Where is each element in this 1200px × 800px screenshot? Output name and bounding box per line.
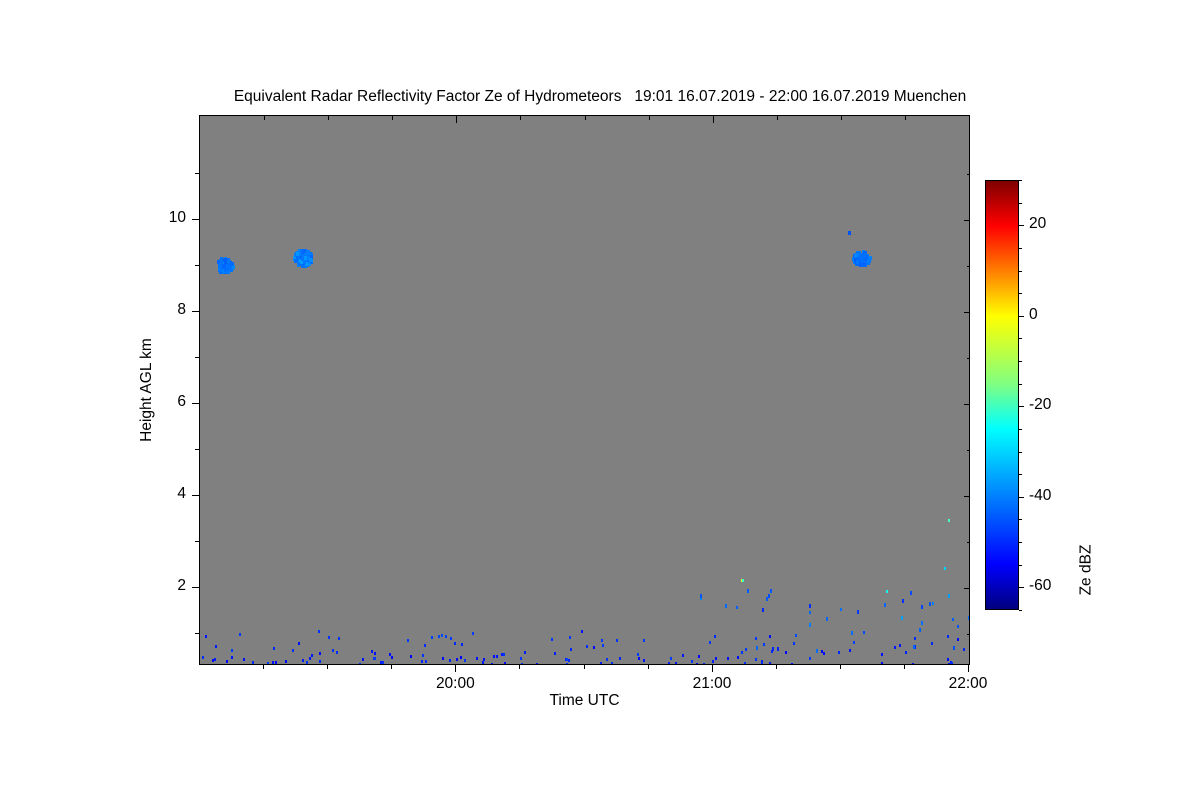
reflectivity-cell <box>504 662 506 665</box>
reflectivity-cell <box>777 647 779 651</box>
reflectivity-cell <box>298 642 300 645</box>
reflectivity-cell <box>914 637 916 640</box>
x-minor-tick <box>968 665 969 669</box>
reflectivity-cell <box>862 255 865 259</box>
reflectivity-cell <box>785 664 787 665</box>
reflectivity-cell <box>230 262 233 266</box>
reflectivity-cell <box>848 231 851 235</box>
y-minor-tick-right <box>967 266 970 267</box>
colorbar-title: Ze dBZ <box>1071 510 1101 630</box>
reflectivity-cell <box>391 656 393 659</box>
reflectivity-cell <box>496 655 498 658</box>
reflectivity-cell <box>302 659 304 662</box>
reflectivity-cell <box>338 637 340 640</box>
plot-area[interactable] <box>199 115 970 665</box>
reflectivity-cell <box>239 633 241 636</box>
y-tick-mark-right <box>964 496 970 497</box>
reflectivity-cell <box>785 651 787 654</box>
y-tick-label: 10 <box>124 209 186 227</box>
reflectivity-cell <box>826 617 828 621</box>
colorbar-tick-label: -40 <box>1029 487 1051 505</box>
reflectivity-cell <box>319 660 321 663</box>
reflectivity-cell <box>857 610 859 614</box>
x-minor-tick-top <box>969 116 970 120</box>
reflectivity-cell <box>421 660 423 663</box>
reflectivity-cell <box>755 658 757 661</box>
x-minor-tick-top <box>520 116 521 120</box>
reflectivity-cell <box>840 608 842 611</box>
reflectivity-cell <box>696 663 698 665</box>
reflectivity-cell <box>450 637 452 640</box>
reflectivity-cell <box>422 654 424 657</box>
reflectivity-cell <box>745 648 747 651</box>
reflectivity-cell <box>214 658 216 661</box>
reflectivity-cell <box>460 656 462 659</box>
reflectivity-cell <box>867 259 870 263</box>
reflectivity-cell <box>953 646 955 650</box>
reflectivity-cell <box>554 652 556 655</box>
y-minor-tick-right <box>967 358 970 359</box>
reflectivity-cell <box>668 662 670 665</box>
reflectivity-cell <box>382 661 384 664</box>
reflectivity-cell <box>737 656 739 659</box>
x-minor-tick <box>519 665 520 669</box>
y-minor-tick <box>195 173 199 174</box>
radar-reflectivity-figure: Equivalent Radar Reflectivity Factor Ze … <box>0 0 1200 800</box>
colorbar-gradient[interactable] <box>985 180 1019 610</box>
colorbar-minor-tick <box>1019 497 1022 498</box>
reflectivity-cell <box>593 646 595 649</box>
x-minor-tick-top <box>649 116 650 120</box>
reflectivity-cell <box>714 635 716 638</box>
y-tick-mark-right <box>964 588 970 589</box>
reflectivity-cell <box>725 604 727 608</box>
reflectivity-cell <box>493 655 495 658</box>
reflectivity-cell <box>870 664 872 665</box>
colorbar-wrap[interactable]: 200-20-40-60 Ze dBZ <box>985 180 1019 610</box>
reflectivity-cell <box>853 641 855 644</box>
y-minor-tick-right <box>967 450 970 451</box>
reflectivity-cell <box>224 268 227 272</box>
reflectivity-cell <box>472 632 474 635</box>
reflectivity-cell <box>643 639 645 642</box>
x-minor-tick <box>840 665 841 669</box>
reflectivity-cell <box>362 658 364 661</box>
y-tick-mark-right <box>964 220 970 221</box>
reflectivity-cell <box>809 604 811 608</box>
reflectivity-cell <box>231 649 233 652</box>
reflectivity-cell <box>224 258 227 262</box>
reflectivity-cell <box>267 662 269 665</box>
reflectivity-cell <box>643 659 645 662</box>
reflectivity-cell <box>963 648 965 651</box>
reflectivity-cell <box>675 662 677 665</box>
x-minor-tick <box>904 665 905 669</box>
y-tick-mark-right <box>964 404 970 405</box>
reflectivity-cell <box>438 635 440 638</box>
reflectivity-cell <box>637 653 639 656</box>
reflectivity-cell <box>863 631 865 634</box>
x-minor-tick-top <box>456 116 457 120</box>
reflectivity-cell <box>856 260 859 264</box>
x-tick-mark-top <box>969 116 970 123</box>
reflectivity-cell <box>881 662 883 665</box>
reflectivity-cell <box>410 655 412 658</box>
reflectivity-cell <box>407 639 409 642</box>
reflectivity-cell <box>445 635 447 638</box>
reflectivity-cell <box>736 606 738 609</box>
reflectivity-cell <box>524 651 526 654</box>
reflectivity-cell <box>769 635 771 638</box>
reflectivity-cell <box>431 636 433 639</box>
reflectivity-cell <box>948 594 950 598</box>
reflectivity-cell <box>884 603 886 607</box>
reflectivity-cell <box>744 662 746 665</box>
reflectivity-cell <box>491 663 493 665</box>
reflectivity-cell <box>568 659 570 662</box>
reflectivity-cell <box>894 646 896 649</box>
reflectivity-cell <box>243 658 245 661</box>
x-tick-label: 22:00 <box>923 675 1013 693</box>
y-tick-mark <box>192 403 199 404</box>
reflectivity-cell <box>762 608 764 612</box>
reflectivity-cell <box>482 661 484 664</box>
reflectivity-cell <box>886 590 888 593</box>
reflectivity-cell <box>952 618 954 621</box>
reflectivity-cell <box>441 634 443 637</box>
reflectivity-cell <box>755 637 757 640</box>
reflectivity-cell <box>712 660 714 663</box>
reflectivity-cell <box>638 657 640 660</box>
colorbar-minor-tick <box>1019 429 1022 430</box>
colorbar-title-label: Ze dBZ <box>1077 545 1095 596</box>
reflectivity-cell <box>932 602 934 605</box>
reflectivity-cell <box>371 650 373 653</box>
x-axis-title: Time UTC <box>199 692 970 710</box>
reflectivity-cell <box>957 625 959 628</box>
reflectivity-cell <box>252 661 254 664</box>
reflectivity-cell <box>374 652 376 655</box>
x-minor-tick <box>584 665 585 669</box>
x-minor-tick <box>263 665 264 669</box>
reflectivity-cell <box>569 636 571 639</box>
reflectivity-cell <box>947 658 949 661</box>
reflectivity-cell <box>791 663 793 665</box>
reflectivity-cell <box>741 651 743 654</box>
reflectivity-cell <box>611 662 613 665</box>
reflectivity-cell <box>559 664 561 665</box>
x-minor-tick <box>327 665 328 669</box>
reflectivity-cell <box>454 642 456 645</box>
reflectivity-cell <box>756 646 758 650</box>
reflectivity-cell <box>727 657 729 660</box>
reflectivity-cell <box>359 663 361 665</box>
reflectivity-cell <box>913 645 915 649</box>
reflectivity-cell <box>294 259 297 263</box>
colorbar-minor-tick <box>1019 406 1022 407</box>
reflectivity-cell <box>464 659 466 662</box>
y-tick-mark <box>192 219 199 220</box>
reflectivity-cell <box>476 657 478 660</box>
reflectivity-cell <box>698 655 700 658</box>
reflectivity-cell <box>766 597 768 601</box>
reflectivity-cell <box>821 650 823 653</box>
x-tick-label: 20:00 <box>410 675 500 693</box>
reflectivity-cell <box>373 657 375 660</box>
reflectivity-cell <box>215 645 217 648</box>
reflectivity-cell <box>772 647 774 651</box>
reflectivity-cell <box>709 641 711 644</box>
reflectivity-cell <box>304 256 307 260</box>
reflectivity-cell <box>456 658 458 661</box>
reflectivity-cell <box>809 623 811 627</box>
reflectivity-cell <box>899 644 901 647</box>
reflectivity-cell <box>296 252 299 256</box>
reflectivity-cell <box>682 654 684 657</box>
reflectivity-cell <box>721 664 723 665</box>
reflectivity-cell <box>581 630 583 633</box>
colorbar-minor-tick <box>1019 316 1022 317</box>
reflectivity-cell <box>521 663 523 665</box>
reflectivity-cell <box>795 634 797 637</box>
x-minor-tick <box>776 665 777 669</box>
colorbar-minor-tick <box>1019 180 1022 181</box>
colorbar-tick-label: 20 <box>1029 215 1046 233</box>
reflectivity-cell <box>319 652 321 655</box>
reflectivity-cell <box>570 648 572 651</box>
reflectivity-cell <box>905 651 907 654</box>
colorbar-minor-tick <box>1019 610 1022 611</box>
figure-title: Equivalent Radar Reflectivity Factor Ze … <box>0 88 1200 106</box>
colorbar-minor-tick <box>1019 361 1022 362</box>
y-minor-tick-right <box>967 174 970 175</box>
x-minor-tick-top <box>328 116 329 120</box>
reflectivity-cell <box>951 662 953 665</box>
reflectivity-cell <box>226 660 228 663</box>
y-minor-tick <box>195 633 199 634</box>
reflectivity-cell <box>619 657 621 660</box>
reflectivity-cell <box>336 651 338 654</box>
x-minor-tick-top <box>713 116 714 120</box>
reflectivity-cell <box>944 567 946 570</box>
reflectivity-cell <box>442 657 444 660</box>
reflectivity-cell <box>670 657 672 660</box>
reflectivity-cell <box>881 653 883 656</box>
reflectivity-cell <box>520 657 522 660</box>
reflectivity-cell <box>318 630 320 633</box>
x-minor-tick-top <box>841 116 842 120</box>
reflectivity-cell <box>948 519 950 522</box>
x-minor-tick <box>455 665 456 669</box>
reflectivity-cell <box>566 663 568 665</box>
x-minor-tick <box>712 665 713 669</box>
reflectivity-cell <box>231 656 233 659</box>
y-minor-tick <box>195 265 199 266</box>
reflectivity-cell <box>968 616 970 620</box>
reflectivity-cell <box>849 649 851 652</box>
reflectivity-cell <box>919 628 921 632</box>
reflectivity-cell <box>501 653 503 656</box>
reflectivity-cell <box>292 649 294 652</box>
reflectivity-cell <box>606 658 608 661</box>
reflectivity-cell <box>823 652 825 655</box>
reflectivity-cell <box>703 663 705 665</box>
colorbar-minor-tick <box>1019 384 1022 385</box>
x-minor-tick-top <box>585 116 586 120</box>
x-minor-tick <box>648 665 649 669</box>
reflectivity-cell <box>838 651 840 654</box>
colorbar-minor-tick <box>1019 587 1022 588</box>
reflectivity-cell <box>691 660 693 663</box>
y-tick-mark <box>192 311 199 312</box>
reflectivity-cell <box>205 635 207 638</box>
reflectivity-cell <box>306 661 308 664</box>
reflectivity-cell <box>273 647 275 650</box>
reflectivity-cell <box>809 611 811 614</box>
reflectivity-cell <box>742 579 744 582</box>
reflectivity-cell <box>601 639 603 642</box>
reflectivity-cell <box>863 263 866 267</box>
reflectivity-cell <box>461 643 463 646</box>
reflectivity-cell <box>902 599 904 603</box>
y-axis-title: Height AGL km <box>132 250 162 530</box>
reflectivity-cell <box>912 663 914 665</box>
y-minor-tick <box>195 449 199 450</box>
y-minor-tick-right <box>967 634 970 635</box>
x-minor-tick-top <box>905 116 906 120</box>
reflectivity-cell <box>854 253 857 257</box>
reflectivity-cell <box>947 635 949 638</box>
colorbar-minor-tick <box>1019 271 1022 272</box>
reflectivity-cell <box>901 616 903 620</box>
reflectivity-cell <box>931 642 933 645</box>
colorbar-minor-tick <box>1019 519 1022 520</box>
reflectivity-cell <box>380 661 382 664</box>
y-minor-tick <box>195 357 199 358</box>
reflectivity-cell <box>602 644 604 647</box>
reflectivity-cell <box>747 589 749 593</box>
colorbar-minor-tick <box>1019 474 1022 475</box>
reflectivity-cell <box>910 591 912 595</box>
reflectivity-cell <box>311 654 313 657</box>
reflectivity-cell <box>761 662 763 665</box>
reflectivity-data-layer <box>200 116 969 664</box>
reflectivity-cell <box>424 644 426 647</box>
x-minor-tick-top <box>264 116 265 120</box>
reflectivity-cell <box>328 636 330 639</box>
reflectivity-cell <box>551 638 553 641</box>
colorbar-minor-tick <box>1019 338 1022 339</box>
reflectivity-cell <box>425 660 427 663</box>
reflectivity-cell <box>770 589 772 593</box>
reflectivity-cell <box>769 662 771 665</box>
colorbar-minor-tick <box>1019 565 1022 566</box>
reflectivity-cell <box>285 660 287 663</box>
reflectivity-cell <box>616 639 618 642</box>
reflectivity-cell <box>763 643 765 646</box>
y-tick-mark <box>192 587 199 588</box>
reflectivity-cell <box>809 657 811 660</box>
x-minor-tick-top <box>392 116 393 120</box>
colorbar-minor-tick <box>1019 293 1022 294</box>
reflectivity-cell <box>768 594 770 598</box>
x-tick-label: 21:00 <box>667 675 757 693</box>
reflectivity-cell <box>851 631 853 635</box>
y-axis-title-label: Height AGL km <box>138 338 156 442</box>
reflectivity-cell <box>309 258 312 262</box>
colorbar-minor-tick <box>1019 452 1022 453</box>
colorbar-minor-tick <box>1019 225 1022 226</box>
reflectivity-cell <box>275 661 277 664</box>
reflectivity-cell <box>957 638 959 641</box>
reflectivity-cell <box>921 621 923 625</box>
x-minor-tick <box>391 665 392 669</box>
reflectivity-cell <box>449 659 451 662</box>
y-tick-mark-right <box>964 312 970 313</box>
reflectivity-cell <box>202 656 204 659</box>
colorbar-minor-tick <box>1019 248 1022 249</box>
reflectivity-cell <box>715 657 717 660</box>
y-minor-tick-right <box>967 542 970 543</box>
reflectivity-cell <box>929 602 931 606</box>
colorbar-tick-label: -20 <box>1029 396 1051 414</box>
reflectivity-cell <box>586 645 588 648</box>
y-tick-label: 2 <box>124 577 186 595</box>
y-minor-tick <box>195 541 199 542</box>
reflectivity-cell <box>700 594 702 598</box>
y-tick-mark <box>192 495 199 496</box>
reflectivity-cell <box>816 649 818 653</box>
reflectivity-cell <box>332 649 334 652</box>
colorbar-tick-label: 0 <box>1029 306 1038 324</box>
x-minor-tick-top <box>777 116 778 120</box>
colorbar-tick-label: -60 <box>1029 577 1051 595</box>
reflectivity-cell <box>503 653 505 656</box>
reflectivity-cell <box>921 605 923 609</box>
reflectivity-cell <box>301 250 304 254</box>
colorbar-minor-tick <box>1019 542 1022 543</box>
reflectivity-cell <box>793 642 795 645</box>
colorbar-minor-tick <box>1019 203 1022 204</box>
reflectivity-cell <box>536 663 538 665</box>
reflectivity-cell <box>600 662 602 665</box>
